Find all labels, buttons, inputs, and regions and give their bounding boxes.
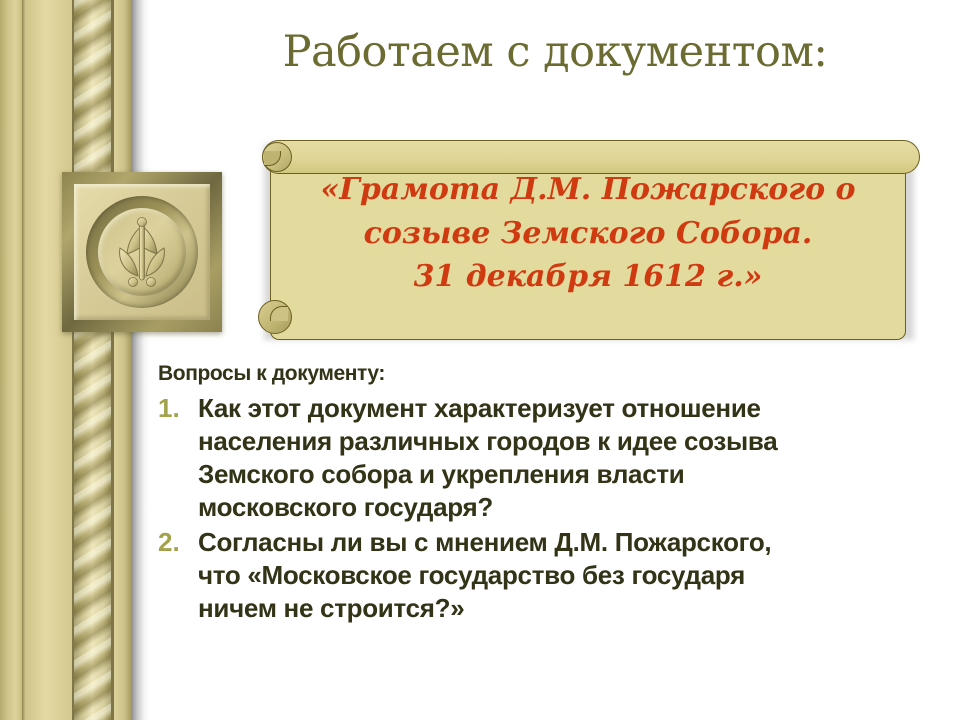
emblem-medallion [62, 172, 222, 332]
question-line: ничем не строится?» [198, 592, 953, 625]
column-stripe-outer [0, 0, 22, 720]
tulip-fleur-icon [98, 206, 186, 298]
list-item: 2. Согласны ли вы с мнением Д.М. Пожарск… [158, 526, 953, 625]
decorative-left-border [0, 0, 150, 720]
column-stripe-mid [26, 0, 74, 720]
scroll-line: «Грамота Д.М. Пожарского о [284, 168, 892, 212]
column-stripe-inner [114, 0, 131, 720]
question-line: населения различных городов к идее созыв… [198, 425, 953, 458]
question-line: что «Московское государство без государя [198, 559, 953, 592]
questions-section: Вопросы к документу: 1. Как этот докумен… [158, 362, 953, 627]
question-line: московского государя? [198, 491, 953, 524]
list-item: 1. Как этот документ характеризует отнош… [158, 392, 953, 524]
list-item-text: Как этот документ характеризует отношени… [198, 392, 953, 524]
question-line: Согласны ли вы с мнением Д.М. Пожарского… [198, 526, 953, 559]
scroll-line: 31 декабря 1612 г.» [284, 255, 892, 299]
question-line: Как этот документ характеризует отношени… [198, 392, 953, 425]
scroll-line: созыве Земского Собора. [284, 212, 892, 256]
question-line: Земского собора и укрепления власти [198, 458, 953, 491]
column-drop-shadow [131, 0, 150, 720]
scroll-curl-bottom-left-icon [258, 300, 292, 334]
list-item-text: Согласны ли вы с мнением Д.М. Пожарского… [198, 526, 953, 625]
list-item-number: 1. [158, 392, 198, 425]
twisted-rope-pattern [74, 0, 112, 720]
page-title: Работаем с документом: [150, 30, 960, 75]
parchment-scroll: «Грамота Д.М. Пожарского о созыве Земско… [256, 132, 920, 344]
scroll-text-block: «Грамота Д.М. Пожарского о созыве Земско… [284, 168, 892, 299]
list-item-number: 2. [158, 526, 198, 559]
questions-heading: Вопросы к документу: [158, 362, 953, 386]
